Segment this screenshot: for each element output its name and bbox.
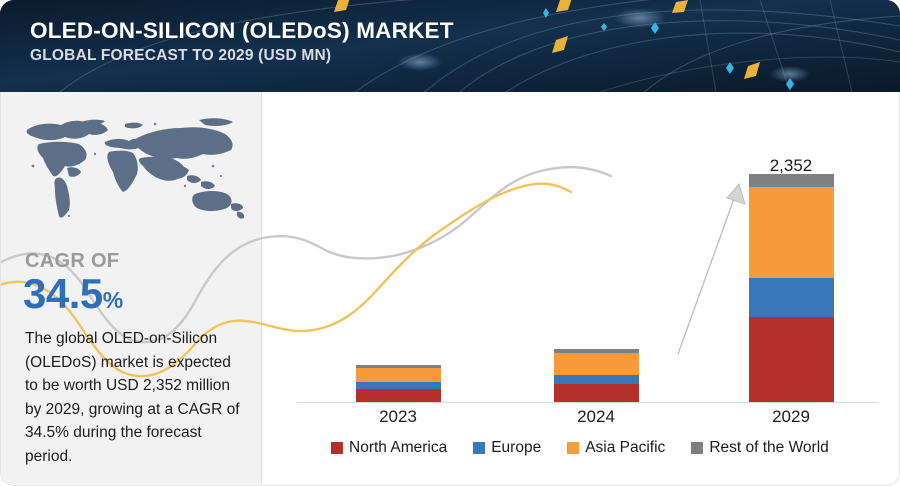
bar-2024[interactable] (554, 349, 639, 402)
bar-2029-segment-europe (749, 278, 834, 317)
page-title: OLED-ON-SILICON (OLEDoS) MARKET (30, 18, 454, 44)
legend-item-asia-pacific[interactable]: Asia Pacific (567, 439, 665, 457)
stacked-bar-chart: 2,352 2023 2024 2029 34.5% (261, 92, 900, 484)
market-description: The global OLED-on-Silicon (OLEDoS) mark… (25, 327, 243, 468)
header-text-block: OLED-ON-SILICON (OLEDoS) MARKET GLOBAL F… (30, 18, 454, 65)
legend-item-north-america[interactable]: North America (331, 439, 447, 457)
x-axis-label-2024: 2024 (536, 407, 656, 427)
legend-label-rest-of-the-world: Rest of the World (709, 439, 828, 457)
legend-swatch-europe (473, 442, 485, 454)
infographic-root: OLED-ON-SILICON (OLEDoS) MARKET GLOBAL F… (0, 0, 900, 486)
cagr-percent-sign: % (103, 287, 123, 313)
page-subtitle: GLOBAL FORECAST TO 2029 (USD MN) (30, 47, 454, 65)
bar-2023-segment-asia-pacific (356, 368, 441, 382)
bar-2023[interactable] (356, 365, 441, 402)
legend-swatch-asia-pacific (567, 442, 579, 454)
legend-item-europe[interactable]: Europe (473, 439, 541, 457)
bar-2029[interactable] (749, 174, 834, 402)
legend-item-rest-of-the-world[interactable]: Rest of the World (691, 439, 828, 457)
bar-2024-segment-europe (554, 375, 639, 384)
cagr-number: 34.5 (23, 270, 103, 317)
bar-2029-segment-asia-pacific (749, 187, 834, 278)
legend-label-europe: Europe (491, 439, 541, 457)
bar-2024-segment-north-america (554, 384, 639, 402)
bar-2023-segment-europe (356, 382, 441, 389)
legend-label-asia-pacific: Asia Pacific (585, 439, 665, 457)
value-label-2029: 2,352 (731, 156, 851, 176)
x-axis-label-2029: 2029 (731, 407, 851, 427)
header-banner: OLED-ON-SILICON (OLEDoS) MARKET GLOBAL F… (0, 0, 900, 92)
legend-label-north-america: North America (349, 439, 447, 457)
world-map-icon (9, 108, 255, 233)
legend-swatch-north-america (331, 442, 343, 454)
bar-2023-segment-north-america (356, 389, 441, 402)
cagr-value: 34.5% (23, 270, 123, 318)
bar-2024-segment-asia-pacific (554, 353, 639, 375)
content-card: CAGR OF 34.5% The global OLED-on-Silicon… (0, 92, 900, 486)
x-axis-label-2023: 2023 (338, 407, 458, 427)
chart-legend: North America Europe Asia Pacific Rest o… (331, 437, 851, 459)
bar-2029-segment-north-america (749, 317, 834, 402)
legend-swatch-rest-of-the-world (691, 442, 703, 454)
